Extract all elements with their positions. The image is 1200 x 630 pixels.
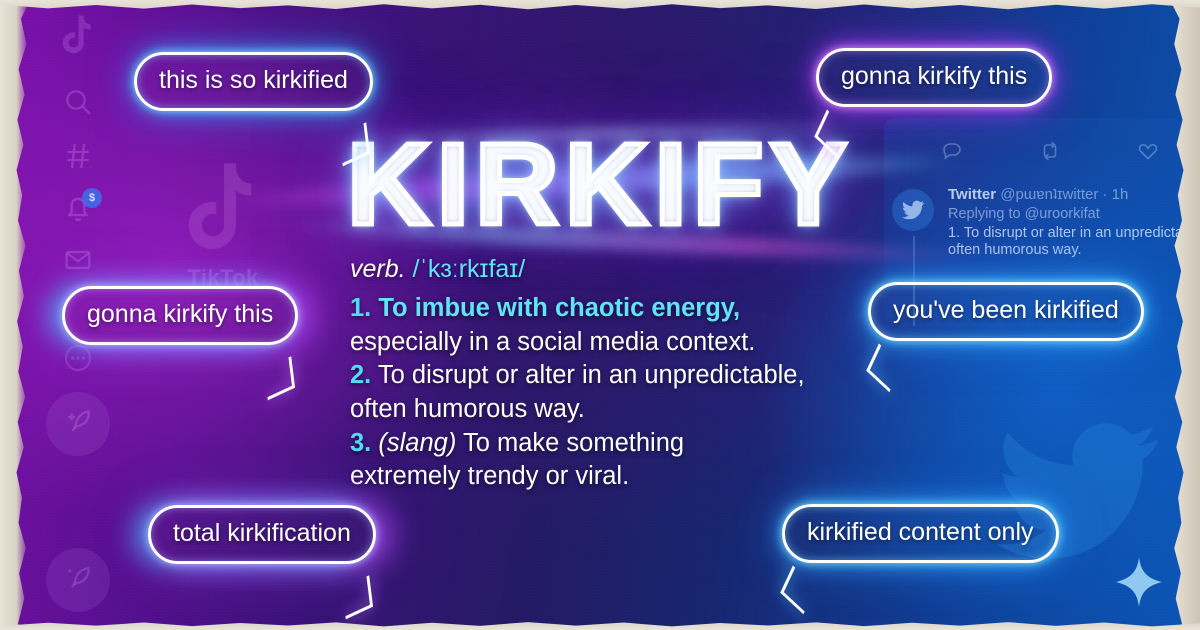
- definition-1: 1. To imbue with chaotic energy,: [350, 292, 910, 326]
- speech-bubble: total kirkification: [148, 505, 376, 564]
- definition-2: 2. To disrupt or alter in an unpredictab…: [350, 359, 910, 393]
- speech-bubble-text: total kirkification: [148, 505, 376, 564]
- speech-bubble-text: gonna kirkify this: [62, 286, 298, 345]
- definition-2-cont: often humorous way.: [350, 393, 910, 427]
- definition-3-text: To make something: [463, 429, 684, 457]
- page-title: KIRKIFY: [0, 126, 1200, 242]
- envelope-icon: [62, 244, 94, 281]
- pronunciation-line: verb. /ˈkɜːrkɪfaɪ/: [350, 255, 910, 284]
- sidebar-item-create[interactable]: [46, 548, 110, 612]
- definition-3-prefix: (slang): [378, 429, 456, 457]
- tiktok-note-icon: [59, 15, 97, 62]
- twitter-body-line-2: often humorous way.: [948, 242, 1192, 258]
- definition-1-number: 1.: [350, 294, 371, 322]
- sidebar-item-tiktok[interactable]: [46, 6, 110, 70]
- speech-bubble: this is so kirkified: [134, 52, 373, 111]
- torn-paper-edge-left: [0, 0, 30, 630]
- definition-2-number: 2.: [350, 361, 371, 389]
- definition-3: 3. (slang) To make something: [350, 427, 910, 461]
- speech-bubble: gonna kirkify this: [62, 286, 298, 345]
- compose-feather-icon: [61, 405, 95, 444]
- torn-paper-edge-bottom: [0, 618, 1200, 630]
- part-of-speech: verb.: [350, 255, 406, 283]
- speech-bubble: you've been kirkified: [868, 282, 1144, 341]
- speech-bubble-text: gonna kirkify this: [816, 48, 1052, 107]
- neon-dictionary-poster: Twitter @pɯɐnʇɪwitter · 1h Replying to @…: [0, 0, 1200, 630]
- speech-bubble-text: kirkified content only: [782, 504, 1059, 563]
- speech-bubble: kirkified content only: [782, 504, 1059, 563]
- headline-kirkify: KIRKIFY: [347, 126, 853, 242]
- definition-block: verb. /ˈkɜːrkɪfaɪ/ 1. To imbue with chao…: [350, 255, 910, 494]
- speech-bubble-text: you've been kirkified: [868, 282, 1144, 341]
- torn-paper-edge-top: [0, 0, 1200, 14]
- definition-2-text: To disrupt or alter in an unpredictable,: [378, 361, 805, 389]
- speech-bubble-text: this is so kirkified: [134, 52, 373, 111]
- definition-1-text: To imbue with chaotic energy,: [378, 294, 740, 322]
- sidebar-item-compose[interactable]: [46, 392, 110, 456]
- definition-3-number: 3.: [350, 429, 371, 457]
- definition-1-cont: especially in a social media context.: [350, 326, 910, 360]
- speech-bubble: gonna kirkify this: [816, 48, 1052, 107]
- sparkle-feather-icon: [61, 561, 95, 600]
- sparkle-icon: [1116, 557, 1162, 612]
- ipa-pronunciation: /ˈkɜːrkɪfaɪ/: [413, 255, 526, 283]
- definition-3-cont: extremely trendy or viral.: [350, 460, 910, 494]
- search-icon: [62, 86, 94, 123]
- more-dots-icon: [62, 342, 94, 379]
